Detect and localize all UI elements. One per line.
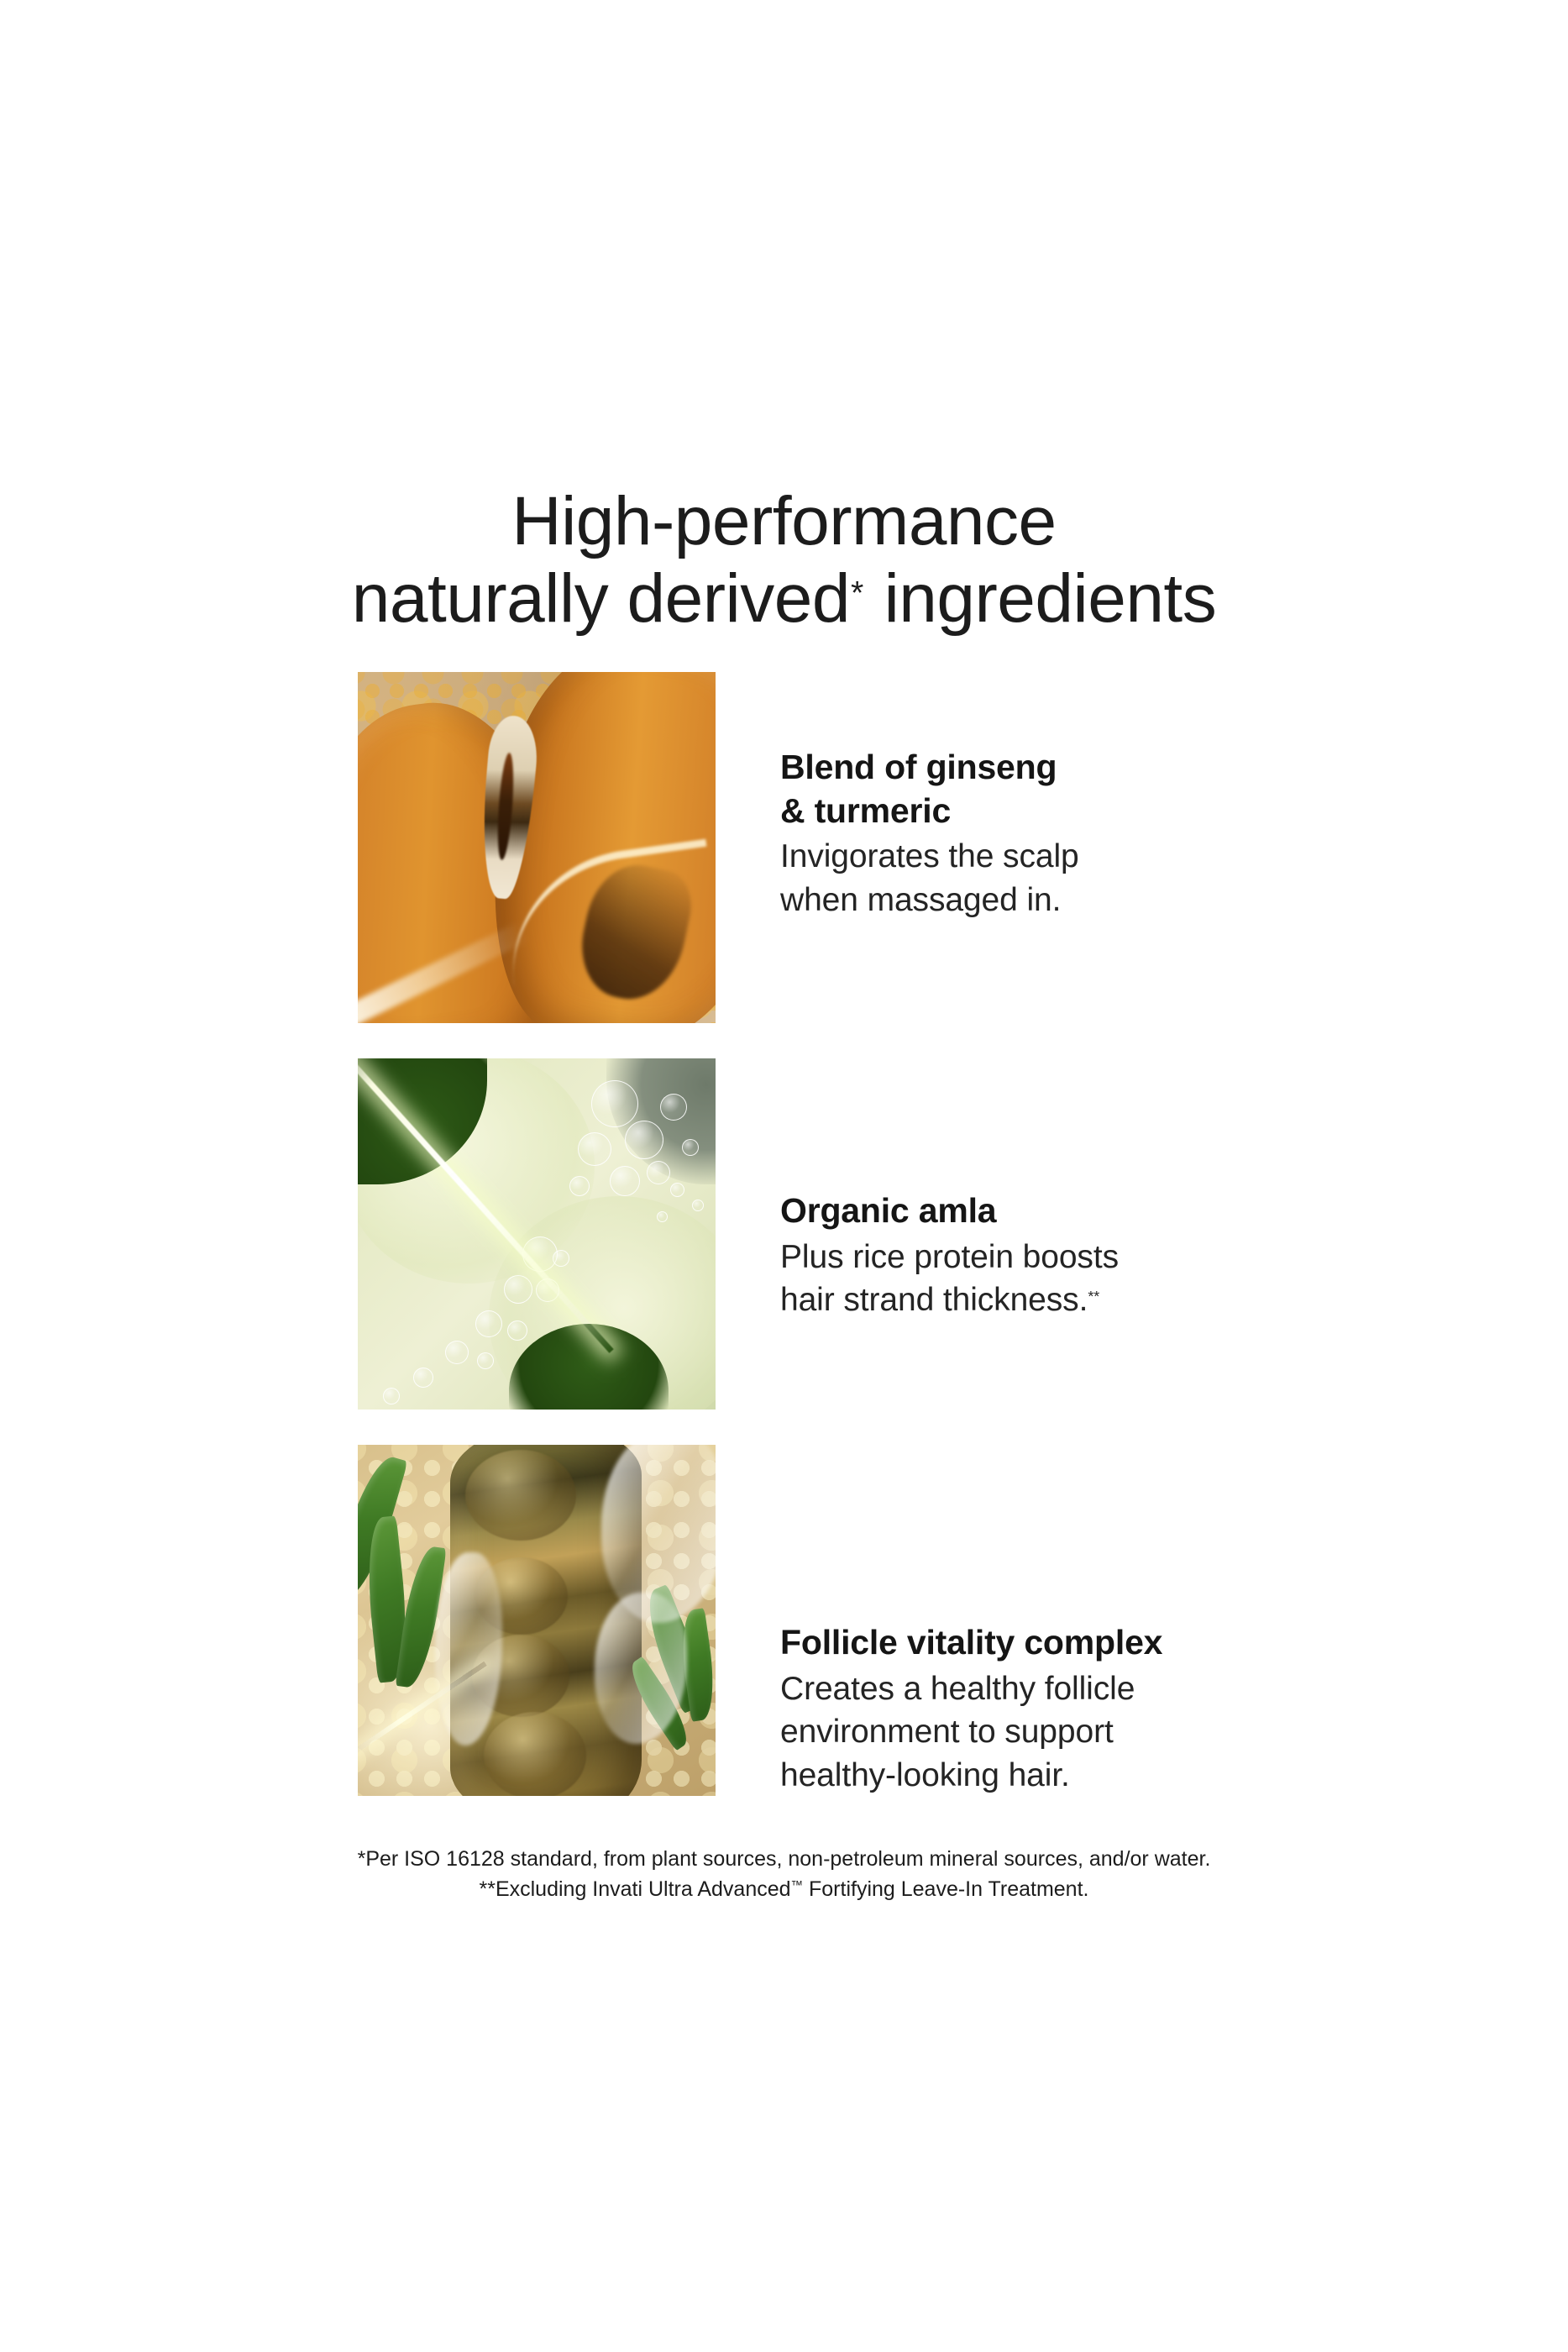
- ingredients-page: High-performance naturally derived* ingr…: [0, 0, 1568, 2352]
- bubble: [504, 1275, 532, 1304]
- ingredient-description: Creates a healthy follicle environment t…: [780, 1667, 1366, 1797]
- list-item: Follicle vitality complex Creates a heal…: [358, 1445, 1366, 1797]
- ingredient-description-line-1: Plus rice protein boosts: [780, 1239, 1119, 1275]
- bubble: [660, 1094, 687, 1121]
- ingredient-title: Blend of ginseng & turmeric: [780, 746, 1366, 832]
- bubble: [647, 1161, 670, 1184]
- ingredient-description-line-3: healthy-looking hair.: [780, 1757, 1070, 1793]
- footnote-line-2-suffix: Fortifying Leave-In Treatment.: [803, 1877, 1088, 1901]
- list-item: Organic amla Plus rice protein boosts ha…: [358, 1058, 1366, 1410]
- footnote-marker-double-asterisk: **: [1088, 1288, 1099, 1305]
- list-item: Blend of ginseng & turmeric Invigorates …: [358, 672, 1366, 1023]
- ingredient-copy: Blend of ginseng & turmeric Invigorates …: [716, 672, 1366, 921]
- ingredient-description-line-2: hair strand thickness.: [780, 1282, 1088, 1318]
- ingredient-description: Invigorates the scalp when massaged in.: [780, 835, 1366, 921]
- ingredient-description-line-1: Invigorates the scalp: [780, 838, 1079, 874]
- root-node: [465, 1450, 576, 1541]
- footnote-line-1: *Per ISO 16128 standard, from plant sour…: [0, 1845, 1568, 1875]
- ingredient-title: Organic amla: [780, 1189, 1366, 1233]
- bubble: [657, 1211, 668, 1222]
- bubble: [477, 1352, 494, 1369]
- bubble: [591, 1080, 638, 1127]
- footnote-marker-asterisk: *: [851, 575, 863, 612]
- bubble: [475, 1310, 502, 1337]
- ingredient-title-line-1: Follicle vitality complex: [780, 1623, 1162, 1662]
- ingredient-list: Blend of ginseng & turmeric Invigorates …: [358, 672, 1366, 1797]
- ingredient-title-line-1: Organic amla: [780, 1191, 996, 1230]
- bubble: [682, 1139, 699, 1156]
- ingredient-copy: Follicle vitality complex Creates a heal…: [716, 1445, 1366, 1797]
- ingredient-description-line-2: environment to support: [780, 1714, 1114, 1750]
- page-title-line-1: High-performance: [0, 483, 1568, 560]
- footnotes: *Per ISO 16128 standard, from plant sour…: [0, 1845, 1568, 1904]
- bubble: [569, 1176, 590, 1196]
- page-title: High-performance naturally derived* ingr…: [0, 483, 1568, 638]
- amla-slice-bubbles-image: [358, 1058, 716, 1410]
- ingredient-copy: Organic amla Plus rice protein boosts ha…: [716, 1058, 1366, 1322]
- root-node: [484, 1712, 586, 1796]
- bubble: [578, 1132, 611, 1166]
- bubble: [553, 1250, 569, 1267]
- ingredient-title-line-2: & turmeric: [780, 791, 951, 830]
- ingredient-title-line-1: Blend of ginseng: [780, 748, 1057, 786]
- bubble: [413, 1368, 433, 1388]
- ingredient-description-line-2: when massaged in.: [780, 882, 1061, 918]
- bubble: [670, 1183, 684, 1197]
- bubble: [610, 1166, 640, 1196]
- bubble: [625, 1121, 663, 1159]
- bubble: [692, 1200, 704, 1211]
- footnote-line-2-text: **Excluding Invati Ultra Advanced: [480, 1877, 791, 1901]
- page-title-line-2-suffix: ingredients: [865, 560, 1216, 637]
- bubble: [445, 1341, 469, 1364]
- ingredient-title: Follicle vitality complex: [780, 1621, 1366, 1665]
- turmeric-root-macro-image: [358, 672, 716, 1023]
- ingredient-description-line-1: Creates a healthy follicle: [780, 1671, 1135, 1707]
- page-title-line-2: naturally derived* ingredients: [0, 560, 1568, 638]
- bubble: [383, 1388, 400, 1404]
- footnote-line-2: **Excluding Invati Ultra Advanced™ Forti…: [0, 1875, 1568, 1905]
- bubble: [507, 1320, 527, 1341]
- page-title-line-2-text: naturally derived: [352, 560, 850, 637]
- ingredient-description: Plus rice protein boosts hair strand thi…: [780, 1236, 1366, 1322]
- ginseng-root-leaves-image: [358, 1445, 716, 1796]
- trademark-icon: ™: [791, 1879, 804, 1893]
